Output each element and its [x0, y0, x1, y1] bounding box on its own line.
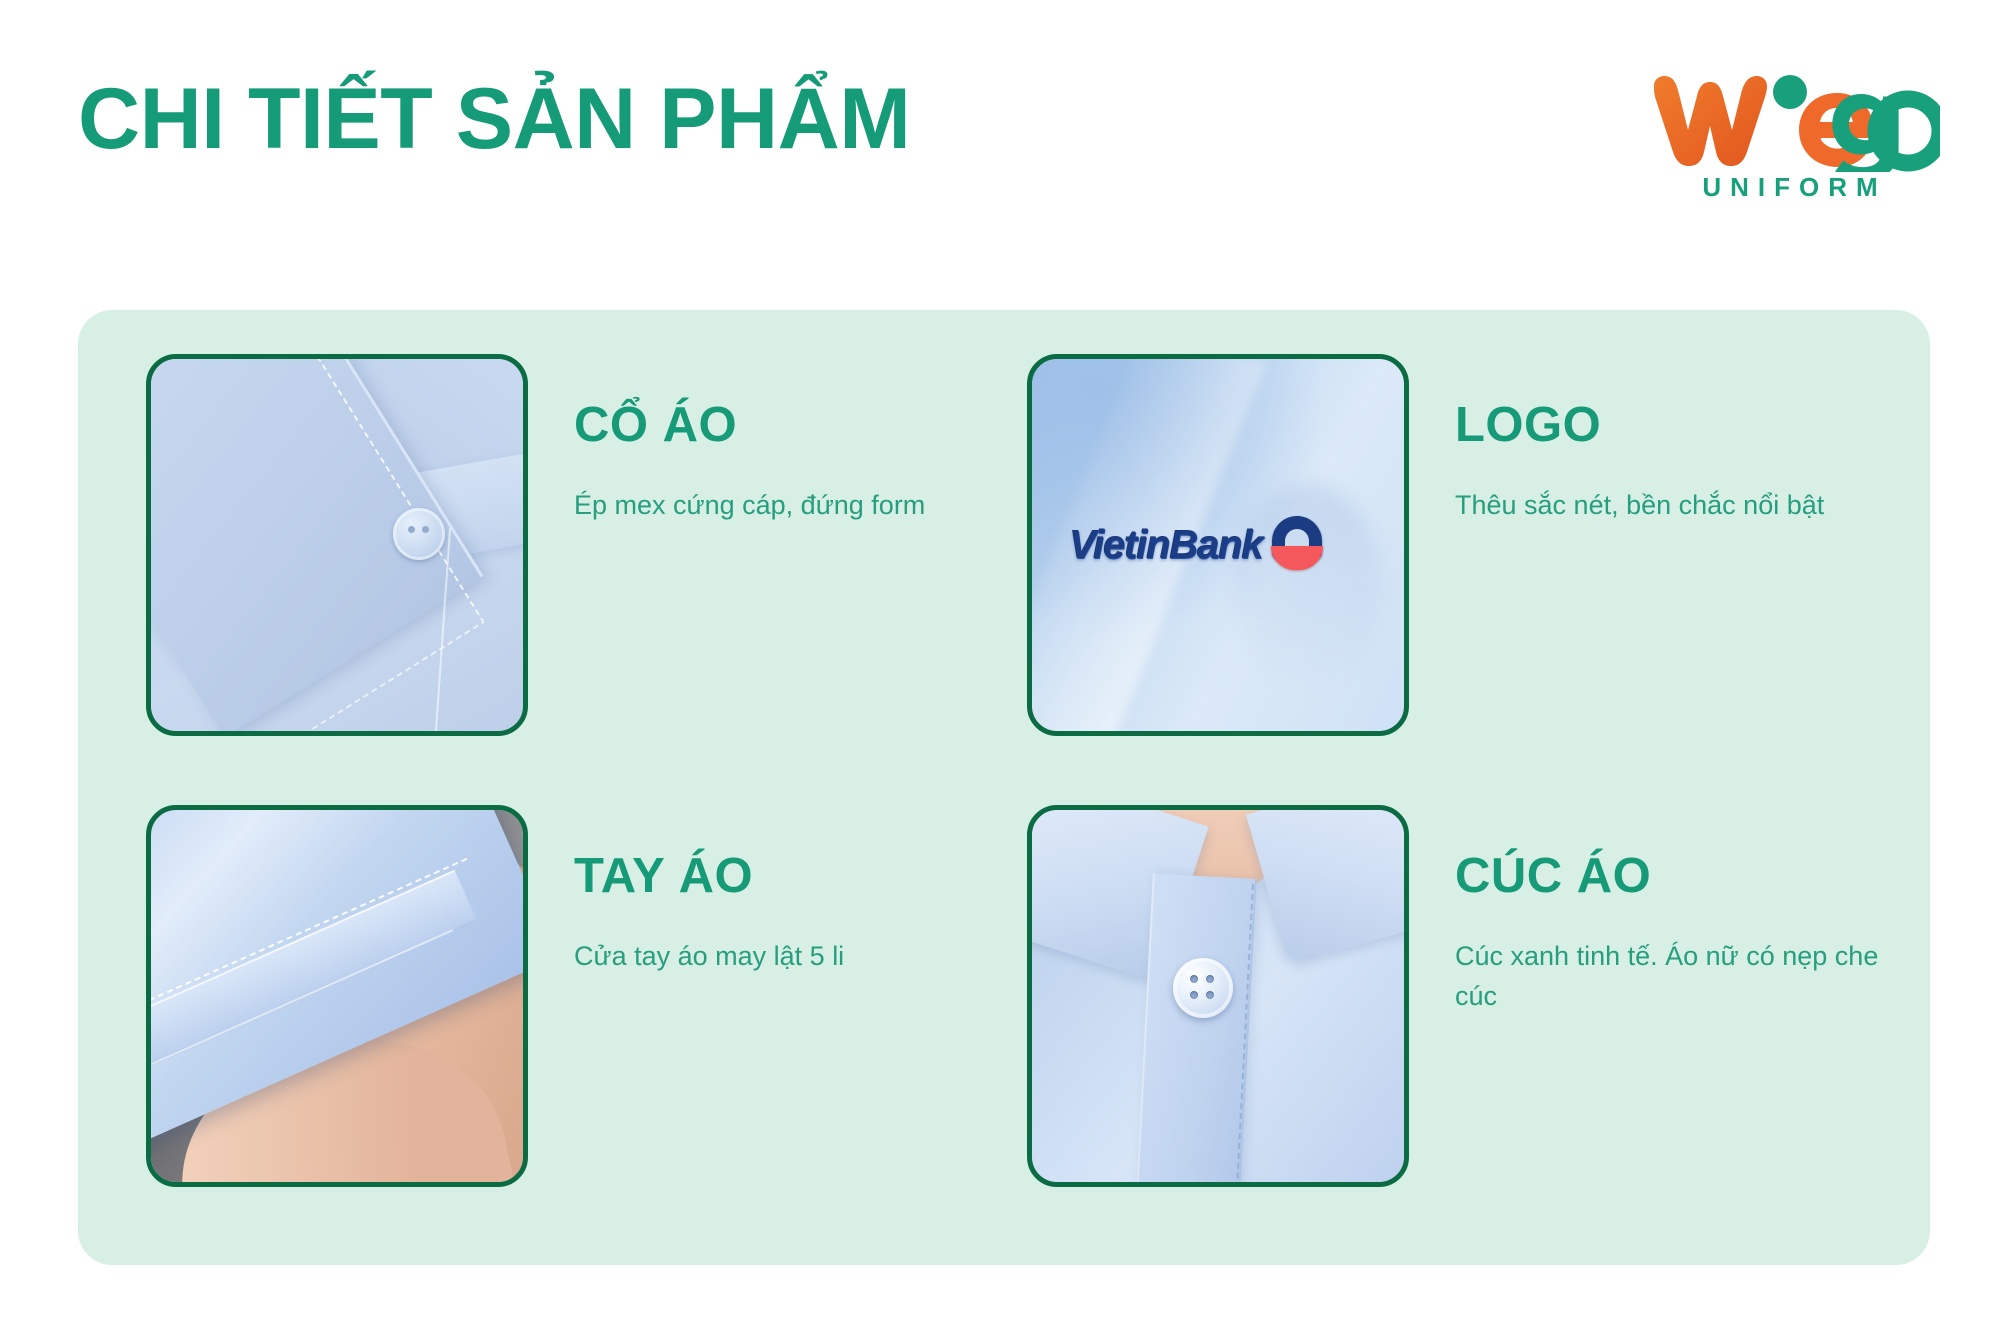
vietinbank-symbol-icon: [1268, 516, 1326, 574]
detail-card-collar: CỔ ÁO Ép mex cứng cáp, đứng form: [146, 354, 1007, 777]
collar-photo: [146, 354, 528, 736]
detail-card-button: CÚC ÁO Cúc xanh tinh tế. Áo nữ có nẹp ch…: [1027, 805, 1888, 1228]
logo-photo: VietinBank: [1027, 354, 1409, 736]
vietinbank-embroidery: VietinBank: [1069, 516, 1344, 574]
brand-logo: UNIFORM: [1640, 68, 1940, 218]
sleeve-text-block: TAY ÁO Cửa tay áo may lật 5 li: [574, 805, 1007, 977]
button-description: Cúc xanh tinh tế. Áo nữ có nẹp che cúc: [1455, 936, 1885, 1017]
logo-title: LOGO: [1455, 400, 1888, 451]
button-text-block: CÚC ÁO Cúc xanh tinh tế. Áo nữ có nẹp ch…: [1455, 805, 1888, 1017]
wego-logomark-icon: [1640, 68, 1940, 172]
logo-text-block: LOGO Thêu sắc nét, bền chắc nổi bật: [1455, 354, 1888, 526]
collar-description: Ép mex cứng cáp, đứng form: [574, 485, 974, 526]
details-grid: CỔ ÁO Ép mex cứng cáp, đứng form VietinB…: [78, 310, 1930, 1265]
logo-description: Thêu sắc nét, bền chắc nổi bật: [1455, 485, 1885, 526]
page-header: CHI TIẾT SẢN PHẨM: [0, 0, 2000, 300]
button-photo: [1027, 805, 1409, 1187]
sleeve-photo: [146, 805, 528, 1187]
details-panel: CỔ ÁO Ép mex cứng cáp, đứng form VietinB…: [78, 310, 1930, 1265]
page-title: CHI TIẾT SẢN PHẨM: [78, 72, 910, 167]
collar-title: CỔ ÁO: [574, 400, 1007, 451]
brand-tagline: UNIFORM: [1640, 172, 1940, 203]
button-title: CÚC ÁO: [1455, 851, 1888, 902]
vietinbank-wordmark: VietinBank: [1069, 523, 1262, 568]
detail-card-sleeve: TAY ÁO Cửa tay áo may lật 5 li: [146, 805, 1007, 1228]
sleeve-description: Cửa tay áo may lật 5 li: [574, 936, 974, 977]
sleeve-title: TAY ÁO: [574, 851, 1007, 902]
collar-text-block: CỔ ÁO Ép mex cứng cáp, đứng form: [574, 354, 1007, 526]
product-detail-page: CHI TIẾT SẢN PHẨM: [0, 0, 2000, 1333]
detail-card-logo: VietinBank LOGO Thêu sắc nét, bền chắc n…: [1027, 354, 1888, 777]
